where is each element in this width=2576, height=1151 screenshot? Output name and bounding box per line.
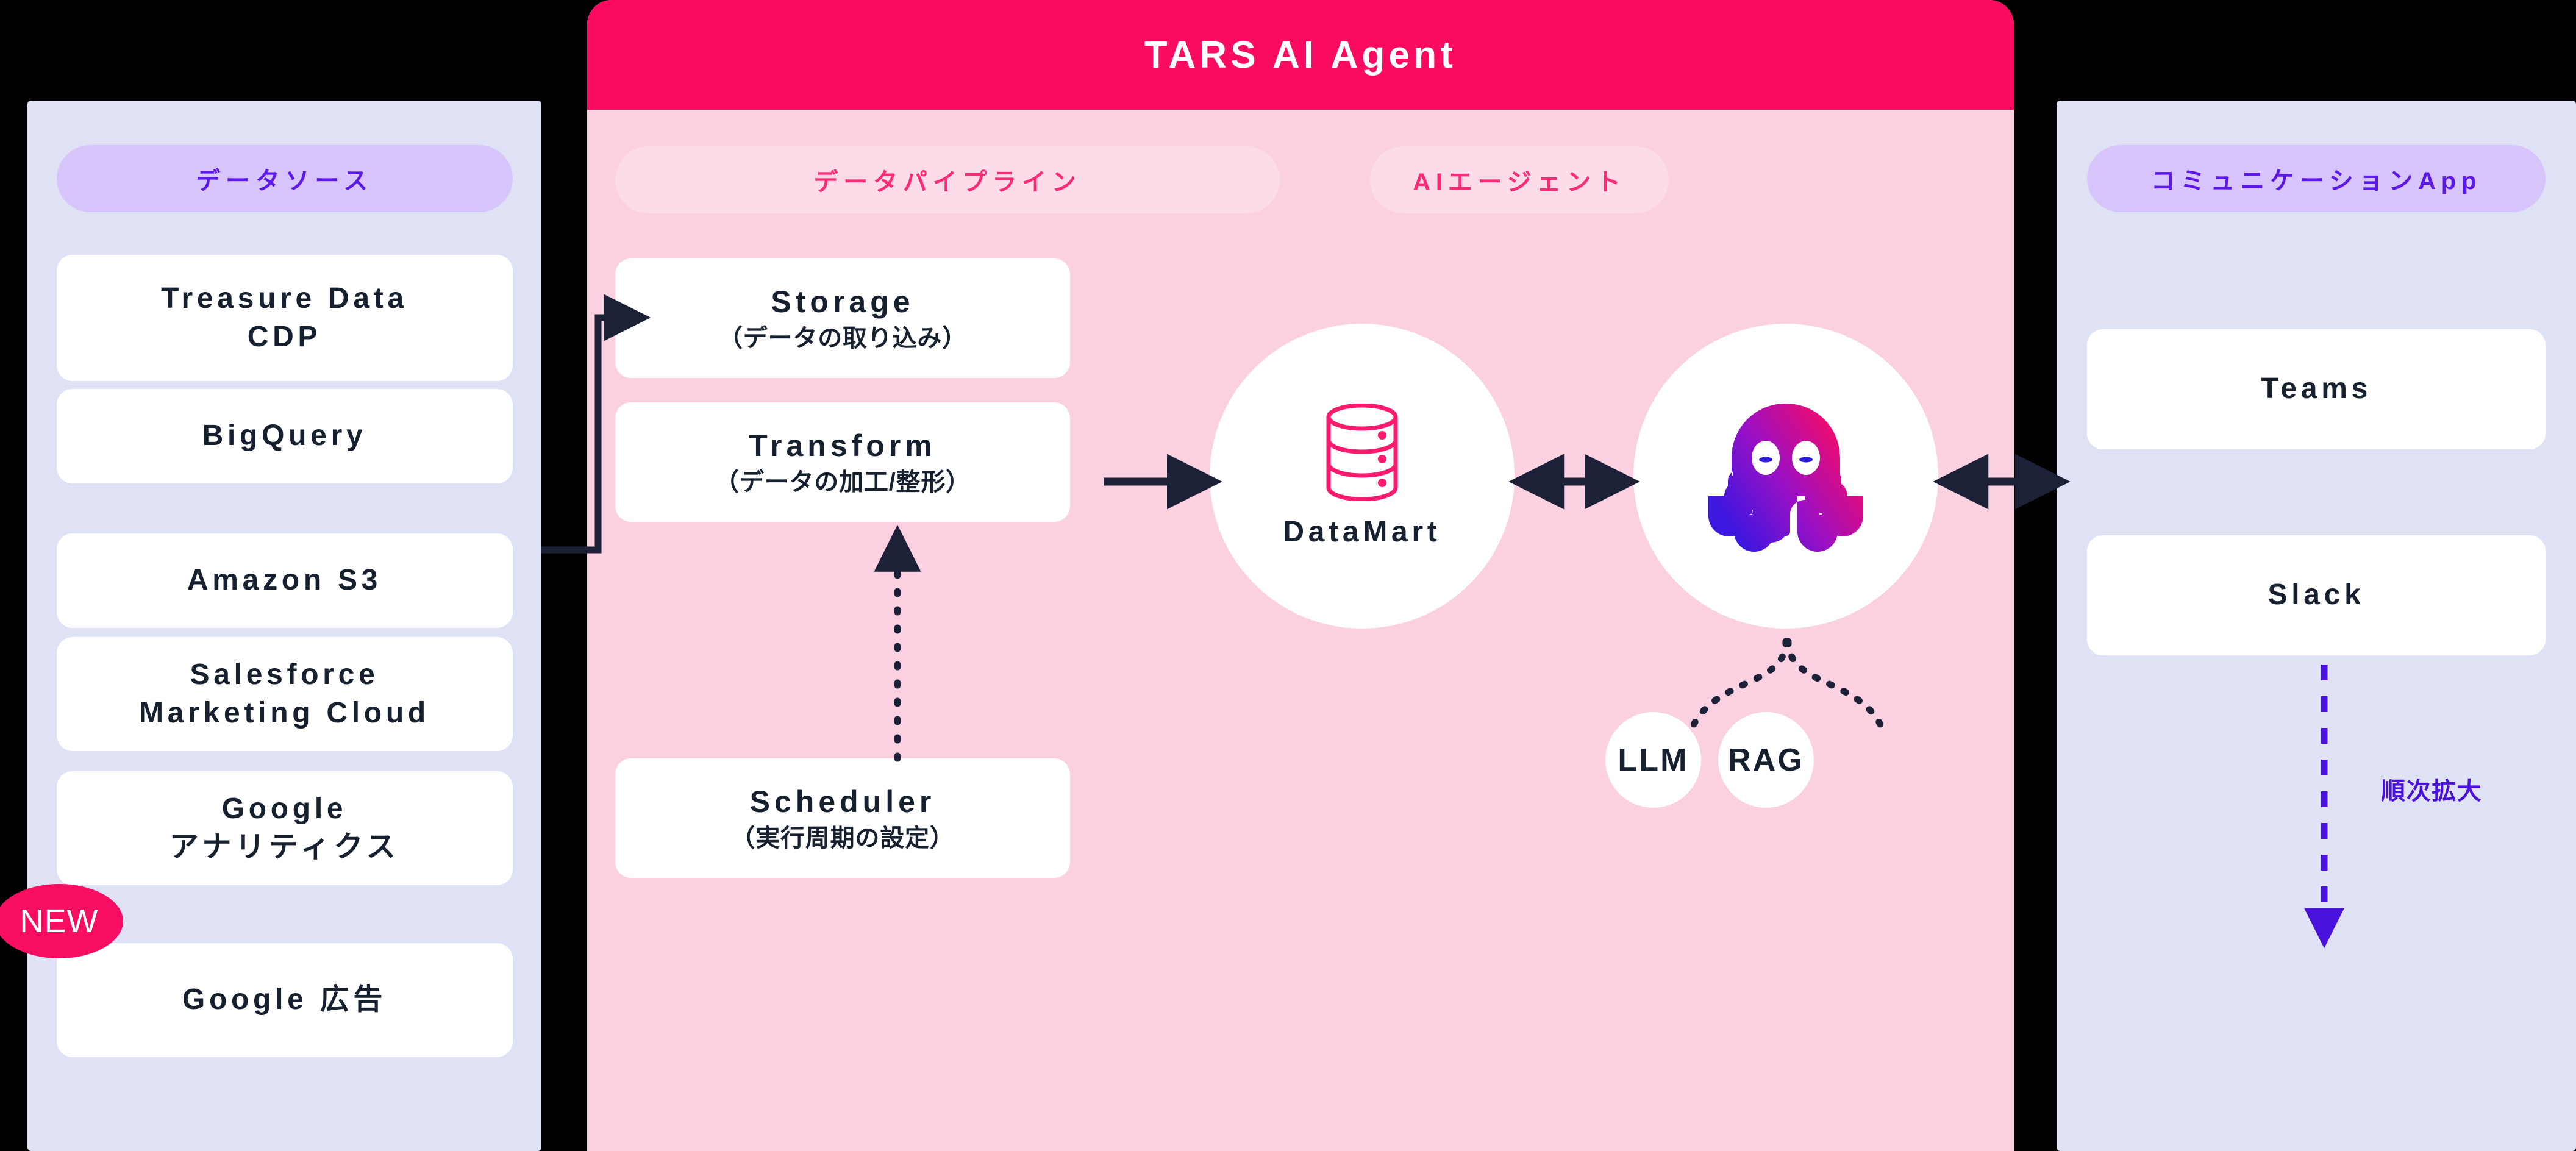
- pipeline-card-subtitle: （データの取り込み）: [718, 325, 967, 352]
- database-icon: [1322, 404, 1402, 504]
- communication-apps-panel: コミュニケーションApp Teams Slack: [2057, 101, 2576, 1151]
- data-source-label: Google アナリティクス: [169, 790, 400, 866]
- pipeline-card-storage[interactable]: Storage （データの取り込み）: [615, 258, 1070, 378]
- data-sources-panel: データソース Treasure Data CDP BigQuery Amazon…: [27, 101, 541, 1151]
- pipeline-card-transform[interactable]: Transform （データの加工/整形）: [615, 402, 1070, 522]
- data-source-label: Salesforce Marketing Cloud: [139, 656, 430, 732]
- agent-title: TARS AI Agent: [1144, 34, 1457, 77]
- model-node-llm[interactable]: LLM: [1605, 712, 1701, 808]
- diagram-canvas: データソース Treasure Data CDP BigQuery Amazon…: [0, 0, 2576, 1151]
- tars-agent-panel: TARS AI Agent データパイプライン AIエージェント Storage…: [587, 0, 2014, 1151]
- new-badge: NEW: [0, 884, 123, 958]
- agent-header: TARS AI Agent: [587, 0, 2014, 110]
- pipeline-card-subtitle: （実行周期の設定）: [730, 825, 954, 852]
- data-source-label: BigQuery: [202, 417, 367, 455]
- ai-agent-node[interactable]: [1633, 324, 1938, 629]
- pipeline-card-title: Transform: [749, 429, 937, 463]
- model-node-rag[interactable]: RAG: [1718, 712, 1814, 808]
- octopus-icon: [1704, 393, 1868, 560]
- data-source-label: Google 広告: [182, 981, 387, 1019]
- pipeline-card-title: Scheduler: [750, 785, 936, 819]
- data-sources-chip-label: データソース: [196, 161, 373, 196]
- model-label: RAG: [1728, 742, 1804, 779]
- pipeline-card-subtitle: （データの加工/整形）: [715, 469, 971, 496]
- data-source-card-google-analytics[interactable]: Google アナリティクス: [57, 771, 513, 885]
- datamart-label: DataMart: [1283, 515, 1441, 549]
- data-source-label: Treasure Data CDP: [161, 280, 408, 356]
- expansion-note-label: 順次拡大: [2381, 778, 2482, 805]
- pipeline-card-title: Storage: [771, 285, 914, 319]
- pipeline-card-scheduler[interactable]: Scheduler （実行周期の設定）: [615, 758, 1070, 878]
- data-source-card-salesforce-marketing-cloud[interactable]: Salesforce Marketing Cloud: [57, 637, 513, 751]
- expansion-note: 順次拡大: [2381, 771, 2482, 807]
- section-chip-data-pipeline: データパイプライン: [615, 146, 1280, 213]
- communication-app-label: Slack: [2267, 576, 2364, 614]
- communication-apps-chip-label: コミュニケーションApp: [2151, 161, 2482, 196]
- data-source-card-bigquery[interactable]: BigQuery: [57, 389, 513, 483]
- communication-apps-chip: コミュニケーションApp: [2087, 145, 2546, 212]
- data-source-card-amazon-s3[interactable]: Amazon S3: [57, 533, 513, 628]
- new-badge-label: NEW: [20, 902, 98, 940]
- data-source-label: Amazon S3: [187, 561, 382, 599]
- data-source-card-treasure-data[interactable]: Treasure Data CDP: [57, 255, 513, 381]
- data-sources-chip: データソース: [57, 145, 513, 212]
- model-label: LLM: [1618, 742, 1688, 779]
- section-chip-label: データパイプライン: [813, 162, 1081, 198]
- datamart-node[interactable]: DataMart: [1210, 324, 1515, 629]
- communication-app-card-slack[interactable]: Slack: [2087, 535, 2546, 655]
- data-source-card-google-ads[interactable]: Google 広告: [57, 943, 513, 1057]
- section-chip-label: AIエージェント: [1413, 162, 1626, 198]
- communication-app-label: Teams: [2261, 370, 2372, 408]
- section-chip-ai-agent: AIエージェント: [1370, 146, 1669, 213]
- communication-app-card-teams[interactable]: Teams: [2087, 329, 2546, 449]
